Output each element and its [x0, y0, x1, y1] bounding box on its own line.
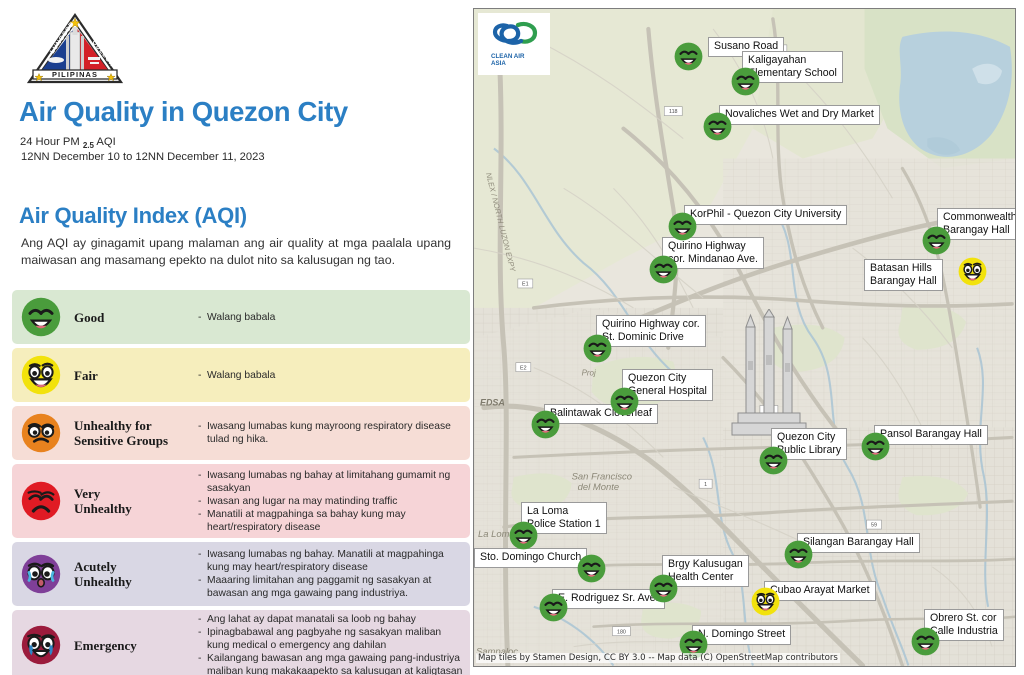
bullet-dash: - — [198, 626, 207, 652]
aqi-legend-table: Good - Walang babala Fair - Walang baba — [12, 290, 470, 675]
legend-advice-text: Iwasang lumabas ng bahay at limitahang g… — [207, 469, 464, 495]
station-label[interactable]: Pansol Barangay Hall — [874, 425, 988, 445]
station-marker-good[interactable] — [759, 446, 788, 475]
svg-text:San Francisco: San Francisco — [572, 471, 632, 482]
logo-line-1: CLEAN AIR — [491, 53, 537, 60]
bullet-dash: - — [198, 548, 207, 574]
station-label[interactable]: Sto. Domingo Church — [474, 548, 587, 568]
legend-advice-item: - Manatili at magpahinga sa bahay kung m… — [198, 508, 464, 534]
legend-advice-item: - Walang babala — [198, 369, 464, 382]
station-label[interactable]: E. Rodriguez Sr. Ave. — [552, 589, 665, 609]
legend-advice-item: - Ipinagbabawal ang pagbyahe ng sasakyan… — [198, 626, 464, 652]
legend-row-emergency: Emergency - Ang lahat ay dapat manatali … — [12, 610, 470, 675]
legend-advice-text: Ipinagbabawal ang pagbyahe ng sasakyan m… — [207, 626, 464, 652]
legend-row-unhealthy-for-sensitive-groups: Unhealthy forSensitive Groups - Iwasang … — [12, 406, 470, 460]
legend-advice-text: Ang lahat ay dapat manatali sa loob ng b… — [207, 613, 464, 626]
legend-advice-text: Iwasang lumabas kung mayroong respirator… — [207, 420, 464, 446]
station-label[interactable]: Quirino Highway cor. St. Dominic Drive — [596, 315, 706, 347]
station-marker-good[interactable] — [922, 226, 951, 255]
bullet-dash: - — [198, 574, 207, 600]
legend-advice-list: - Ang lahat ay dapat manatali sa loob ng… — [194, 613, 464, 675]
station-label[interactable]: Silangan Barangay Hall — [797, 533, 920, 553]
station-marker-good[interactable] — [703, 112, 732, 141]
station-marker-good[interactable] — [784, 540, 813, 569]
subtitle-metric: 24 Hour PM 2.5 AQI — [20, 136, 116, 150]
bullet-dash: - — [198, 311, 207, 324]
station-marker-good[interactable] — [610, 387, 639, 416]
subtitle-metric-subscript: 2.5 — [83, 141, 94, 150]
station-marker-good[interactable] — [649, 255, 678, 284]
legend-advice-list: - Walang babala — [194, 311, 464, 324]
legend-category-label: Emergency — [64, 638, 194, 653]
legend-category-label: Fair — [64, 368, 194, 383]
station-label[interactable]: Novaliches Wet and Dry Market — [719, 105, 880, 125]
bullet-dash: - — [198, 508, 207, 534]
legend-category-label: AcutelyUnhealthy — [64, 559, 194, 589]
legend-row-acutely-unhealthy: AcutelyUnhealthy - Iwasang lumabas ng ba… — [12, 542, 470, 606]
clean-air-asia-logo-text: CLEAN AIR ASIA — [491, 53, 537, 67]
legend-row-very-unhealthy: VeryUnhealthy - Iwasang lumabas ng bahay… — [12, 464, 470, 538]
legend-advice-text: Walang babala — [207, 311, 464, 324]
map-attribution: Map tiles by Stamen Design, CC BY 3.0 --… — [476, 653, 840, 663]
bullet-dash: - — [198, 369, 207, 382]
station-label[interactable]: Batasan Hills Barangay Hall — [864, 259, 943, 291]
svg-text:Proj: Proj — [582, 369, 596, 378]
legend-advice-text: Kailangang bawasan ang mga gawaing pang-… — [207, 652, 464, 675]
station-label[interactable]: Cubao Arayat Market — [764, 581, 876, 601]
bullet-dash: - — [198, 613, 207, 626]
svg-text:59: 59 — [871, 523, 877, 529]
subtitle-metric-pre: 24 Hour PM — [20, 136, 83, 148]
station-label[interactable]: Balintawak Cloverleaf — [544, 404, 658, 424]
bullet-dash: - — [198, 420, 207, 446]
legend-advice-item: - Kailangang bawasan ang mga gawaing pan… — [198, 652, 464, 675]
aqi-section-description: Ang AQI ay ginagamit upang malaman ang a… — [21, 235, 451, 268]
legend-advice-item: - Ang lahat ay dapat manatali sa loob ng… — [198, 613, 464, 626]
left-info-panel: PILIPINAS LUNGSOD QUEZON Air Quality in … — [0, 0, 470, 675]
bullet-dash: - — [198, 495, 207, 508]
legend-advice-text: Iwasang lumabas ng bahay. Manatili at ma… — [207, 548, 464, 574]
svg-text:EDSA: EDSA — [480, 398, 505, 408]
legend-row-fair: Fair - Walang babala — [12, 348, 470, 402]
station-marker-good[interactable] — [861, 432, 890, 461]
legend-row-good: Good - Walang babala — [12, 290, 470, 344]
logo-line-2: ASIA — [491, 60, 537, 67]
subtitle-period: 12NN December 10 to 12NN December 11, 20… — [21, 151, 265, 163]
aqi-face-icon-crying — [18, 625, 64, 665]
legend-advice-item: - Iwasan ang lugar na may matinding traf… — [198, 495, 464, 508]
station-marker-good[interactable] — [583, 334, 612, 363]
svg-text:E1: E1 — [522, 282, 529, 288]
svg-text:PILIPINAS: PILIPINAS — [52, 70, 98, 79]
legend-advice-item: - Iwasang lumabas ng bahay at limitahang… — [198, 469, 464, 495]
station-marker-fair[interactable] — [958, 257, 987, 286]
aqi-face-icon-worried — [18, 413, 64, 453]
quezon-city-air-quality-map[interactable]: NLEX / NORTH LUZON EXPY EDSA San Francis… — [473, 8, 1016, 667]
bullet-dash: - — [198, 652, 207, 675]
svg-text:E2: E2 — [520, 365, 527, 371]
legend-advice-list: - Iwasang lumabas ng bahay. Manatili at … — [194, 548, 464, 600]
station-marker-good[interactable] — [911, 627, 940, 656]
aqi-section-title: Air Quality Index (AQI) — [19, 203, 247, 229]
legend-advice-text: Iwasan ang lugar na may matinding traffi… — [207, 495, 464, 508]
legend-advice-item: - Iwasang lumabas kung mayroong respirat… — [198, 420, 464, 446]
svg-text:180: 180 — [617, 629, 626, 635]
bullet-dash: - — [198, 469, 207, 495]
aqi-face-icon-sad — [18, 481, 64, 521]
legend-advice-list: - Iwasang lumabas ng bahay at limitahang… — [194, 469, 464, 534]
station-marker-good[interactable] — [649, 574, 678, 603]
station-marker-good[interactable] — [531, 410, 560, 439]
quezon-memorial-circle-monument — [724, 309, 814, 439]
legend-category-label: Unhealthy forSensitive Groups — [64, 418, 194, 448]
infographic-page: PILIPINAS LUNGSOD QUEZON Air Quality in … — [0, 0, 1024, 675]
station-marker-fair[interactable] — [751, 587, 780, 616]
aqi-face-icon-fair — [18, 355, 64, 395]
legend-advice-list: - Walang babala — [194, 369, 464, 382]
svg-text:1: 1 — [704, 482, 707, 488]
svg-text:del Monte: del Monte — [578, 482, 620, 493]
legend-category-label: VeryUnhealthy — [64, 486, 194, 516]
station-label[interactable]: KorPhil - Quezon City University — [684, 205, 847, 225]
clean-air-asia-logo: CLEAN AIR ASIA — [478, 13, 550, 75]
legend-category-label: Good — [64, 310, 194, 325]
legend-advice-text: Walang babala — [207, 369, 464, 382]
legend-advice-item: - Walang babala — [198, 311, 464, 324]
legend-advice-item: - Maaaring limitahan ang paggamit ng sas… — [198, 574, 464, 600]
station-marker-good[interactable] — [509, 521, 538, 550]
station-marker-good[interactable] — [674, 42, 703, 71]
station-marker-good[interactable] — [668, 212, 697, 241]
aqi-face-icon-happy — [18, 297, 64, 337]
svg-text:118: 118 — [669, 109, 678, 115]
subtitle-metric-post: AQI — [94, 136, 116, 148]
legend-advice-text: Maaaring limitahan ang paggamit ng sasak… — [207, 574, 464, 600]
legend-advice-list: - Iwasang lumabas kung mayroong respirat… — [194, 420, 464, 446]
page-title: Air Quality in Quezon City — [19, 96, 348, 128]
aqi-face-icon-scared — [18, 554, 64, 594]
legend-advice-item: - Iwasang lumabas ng bahay. Manatili at … — [198, 548, 464, 574]
station-marker-good[interactable] — [539, 593, 568, 622]
station-marker-good[interactable] — [731, 67, 760, 96]
quezon-city-seal-icon: PILIPINAS LUNGSOD QUEZON — [26, 12, 124, 86]
station-marker-good[interactable] — [577, 554, 606, 583]
legend-advice-text: Manatili at magpahinga sa bahay kung may… — [207, 508, 464, 534]
